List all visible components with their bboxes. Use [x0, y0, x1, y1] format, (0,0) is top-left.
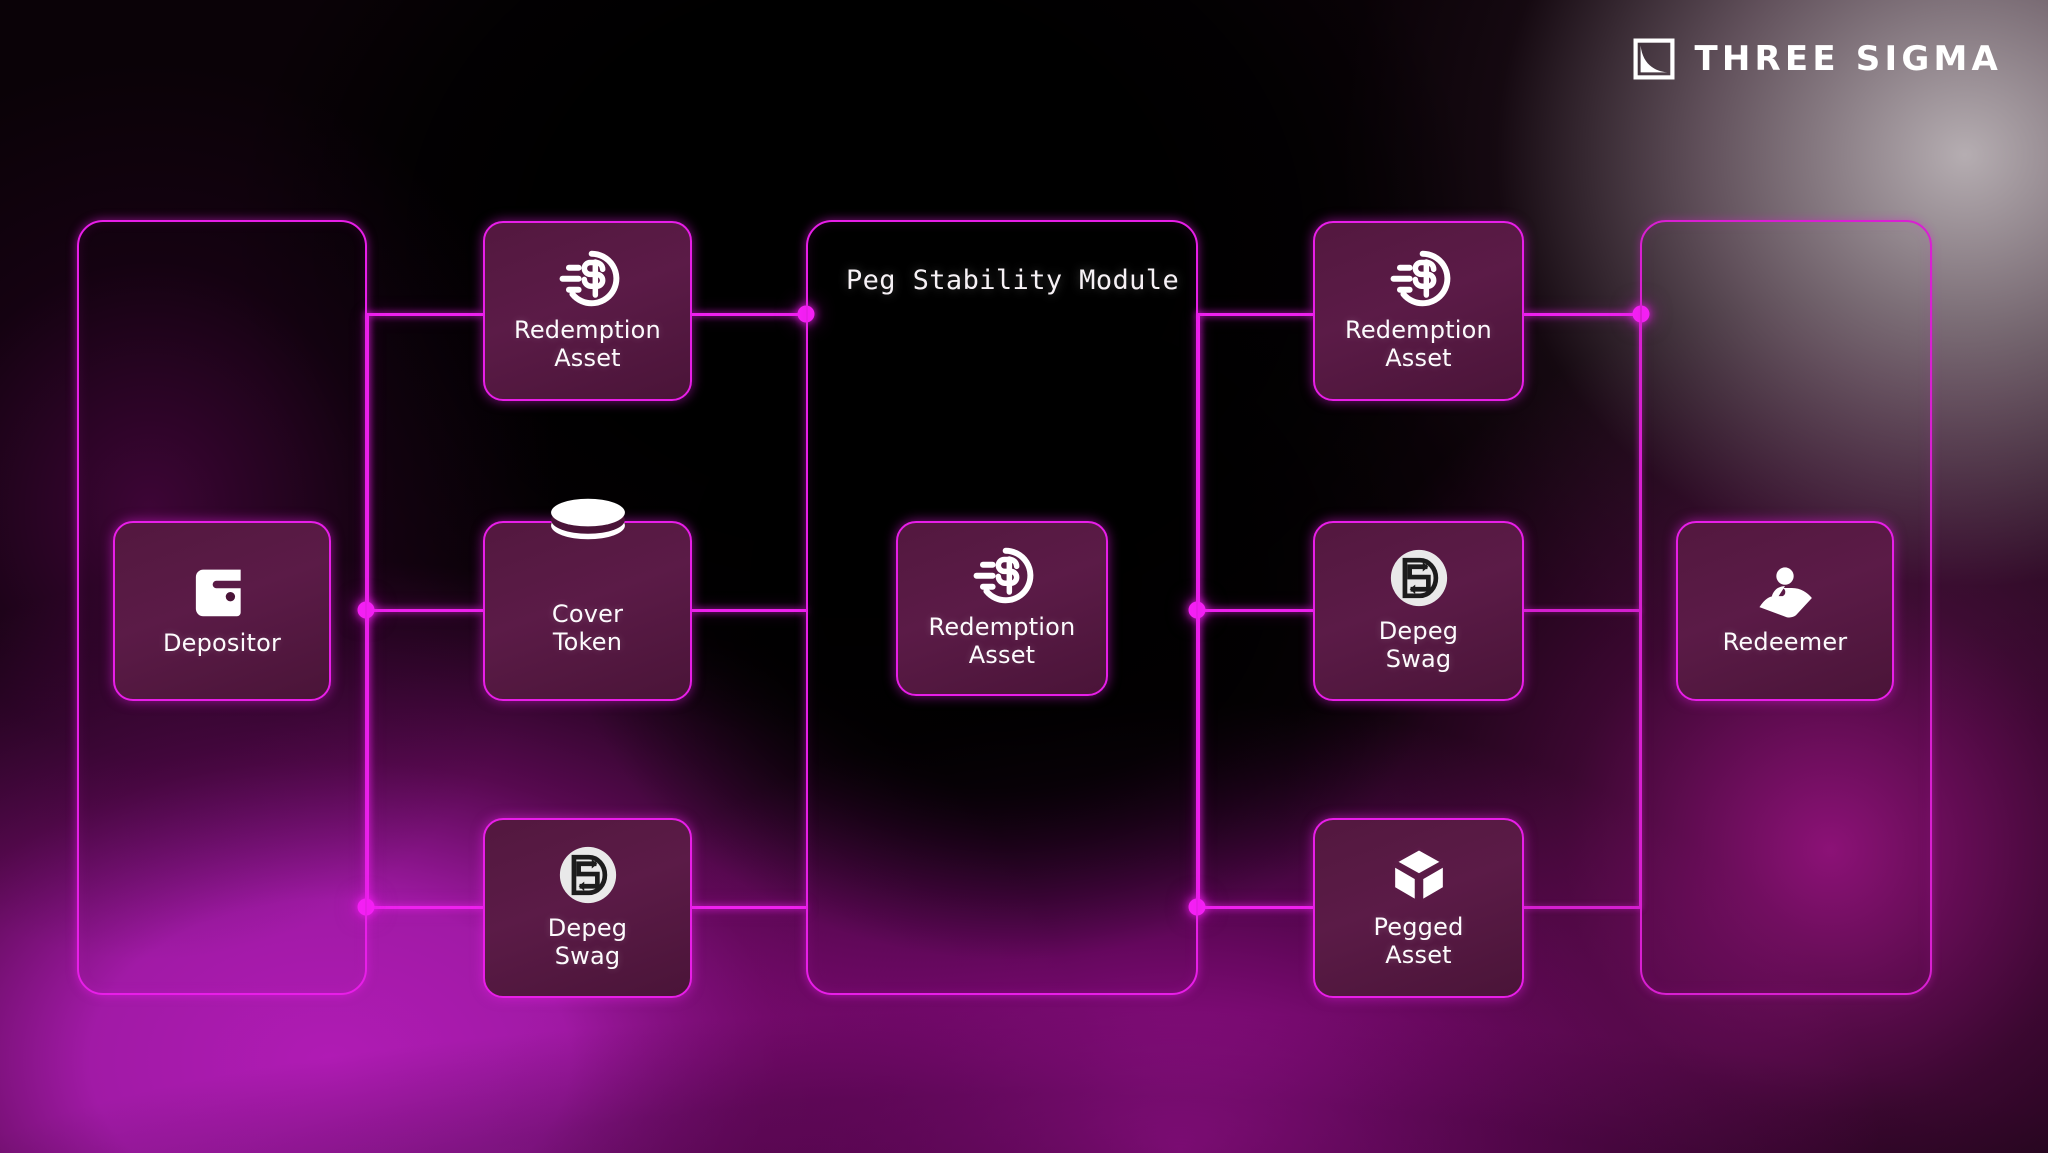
redemption-asset-icon [1386, 250, 1452, 307]
depeg-swag-icon [1389, 548, 1449, 608]
node-right-redemption-asset[interactable]: Redemption Asset [1313, 221, 1524, 401]
wire-cover-token-to-psm [692, 609, 806, 612]
node-left-depeg-swag-label: Depeg Swag [548, 915, 627, 971]
node-cover-token[interactable]: Cover Token [483, 521, 692, 701]
wire-pegged-asset-to-redeemer-group [1523, 906, 1641, 909]
node-depositor-label: Depositor [163, 630, 281, 658]
node-left-depeg-swag[interactable]: Depeg Swag [483, 818, 692, 998]
wire-depositor-group-to-left-depeg [366, 906, 483, 909]
redemption-asset-icon [555, 250, 621, 307]
peg-stability-module-title: Peg Stability Module [846, 265, 1158, 296]
node-redeemer-label: Redeemer [1723, 629, 1848, 657]
redemption-asset-icon [969, 547, 1035, 604]
wire-left-depeg-to-psm [692, 906, 806, 909]
hand-person-icon [1754, 566, 1816, 619]
wire-psm-to-pegged-asset [1197, 906, 1314, 909]
psm-flow-diagram: Peg Stability Module Depositor Redemptio… [0, 0, 2048, 1153]
wire-depositor-group-to-cover-token [366, 609, 483, 612]
wire-left-redemption-to-psm [692, 313, 806, 316]
node-right-redemption-asset-label: Redemption Asset [1345, 317, 1492, 373]
node-left-redemption-asset-label: Redemption Asset [514, 317, 661, 373]
wire-right-redemption-to-redeemer-group [1523, 313, 1641, 316]
node-pegged-asset-label: Pegged Asset [1373, 914, 1463, 970]
node-psm-redemption-asset-label: Redemption Asset [929, 614, 1076, 670]
wire-depositor-group-to-left-redemption [366, 313, 483, 316]
wire-psm-to-right-depeg [1197, 609, 1314, 612]
wire-right-depeg-to-redeemer-group [1523, 609, 1641, 612]
node-left-redemption-asset[interactable]: Redemption Asset [483, 221, 692, 401]
node-redeemer[interactable]: Redeemer [1676, 521, 1894, 701]
coin-icon [546, 495, 630, 543]
node-cover-token-label: Cover Token [552, 601, 623, 657]
node-right-depeg-swag[interactable]: Depeg Swag [1313, 521, 1524, 701]
node-depositor[interactable]: Depositor [113, 521, 331, 701]
node-pegged-asset[interactable]: Pegged Asset [1313, 818, 1524, 998]
cube-icon [1390, 846, 1448, 904]
depeg-swag-icon [558, 845, 618, 905]
node-psm-redemption-asset[interactable]: Redemption Asset [896, 521, 1108, 696]
wallet-icon [192, 564, 252, 620]
wire-psm-to-right-redemption [1197, 313, 1314, 316]
node-right-depeg-swag-label: Depeg Swag [1379, 618, 1458, 674]
